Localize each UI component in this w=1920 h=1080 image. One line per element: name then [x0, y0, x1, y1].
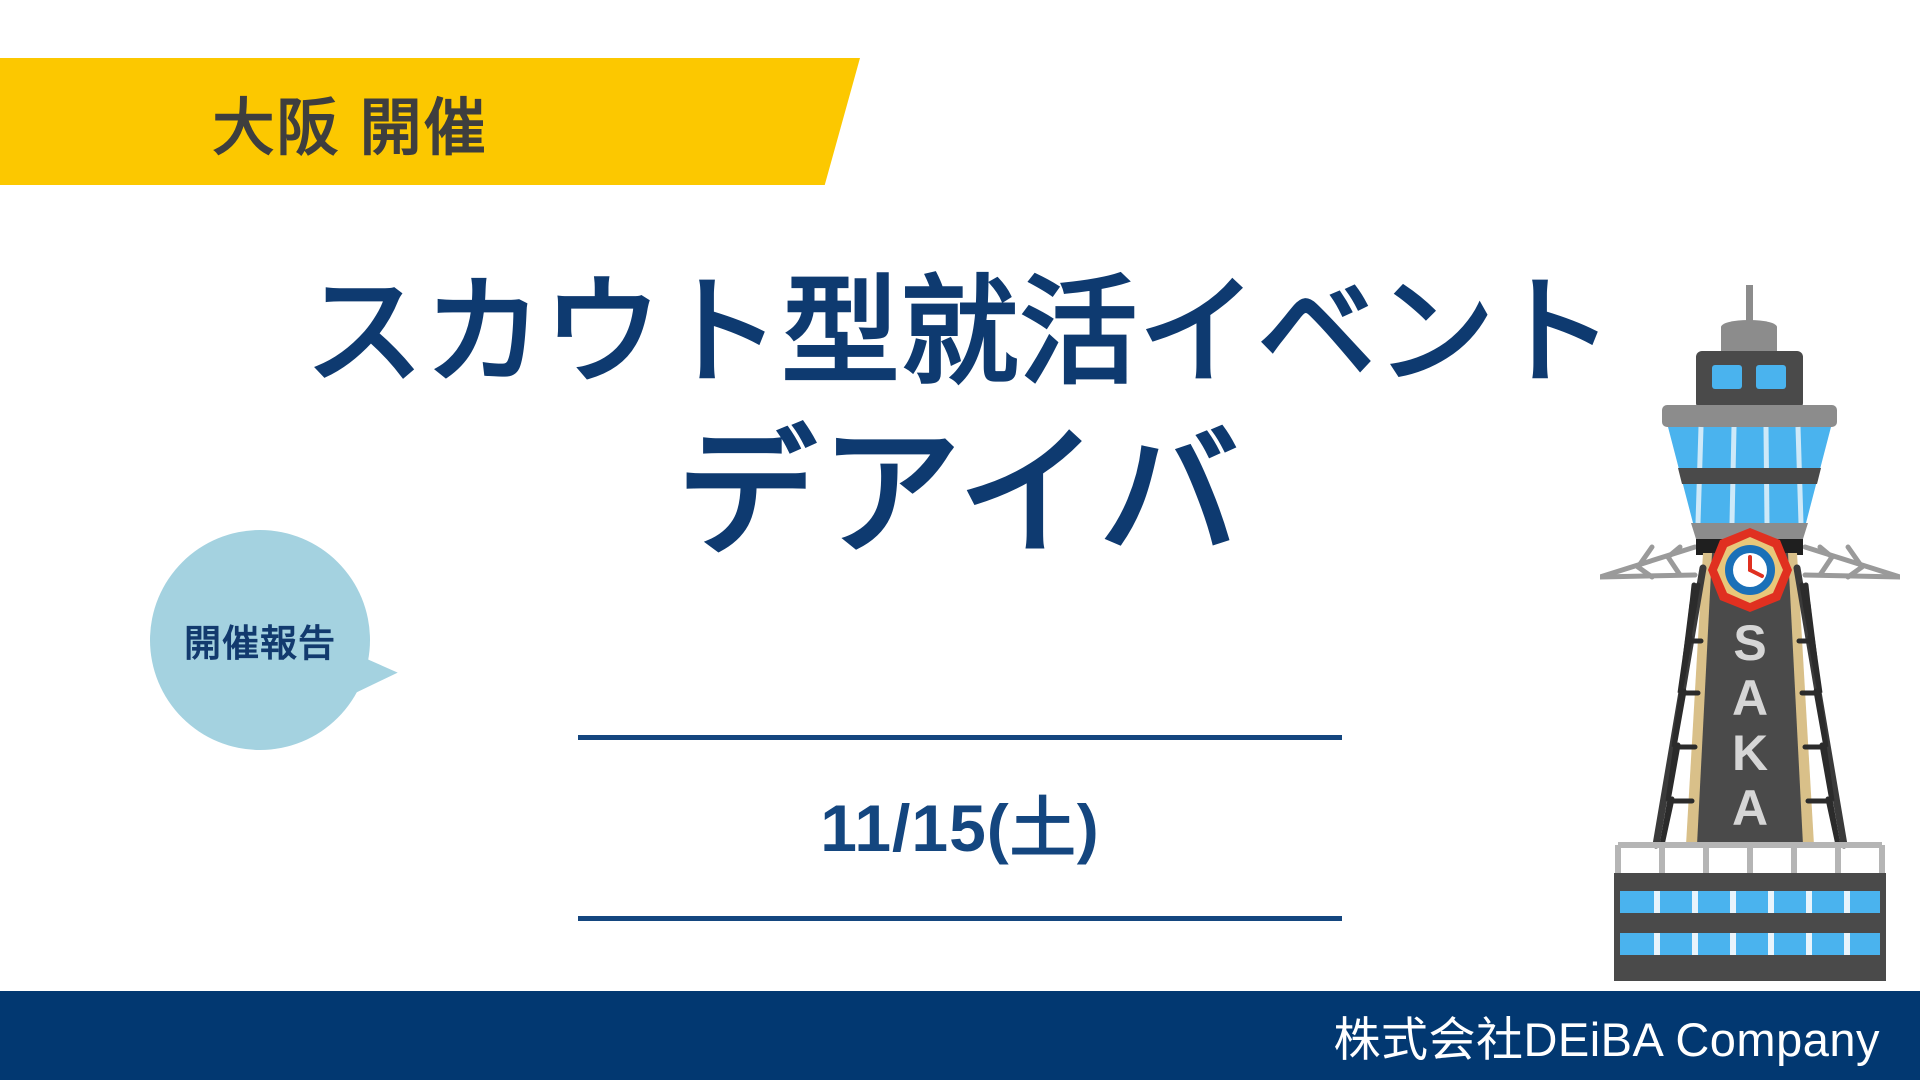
headline-line-1: スカウト型就活イベント — [300, 272, 1620, 396]
speech-bubble-label: 開催報告 — [150, 530, 370, 750]
date-rule-top — [578, 735, 1342, 740]
slide-canvas: 大阪 開催 スカウト型就活イベント デアイバ 開催報告 11/15(土) — [0, 0, 1920, 1080]
date-rule-bottom — [578, 916, 1342, 921]
svg-text:K: K — [1732, 725, 1768, 781]
headline-line-2: デアイバ — [300, 420, 1620, 567]
event-date: 11/15(土) — [578, 775, 1342, 871]
report-speech-bubble: 開催報告 — [150, 530, 430, 780]
tsutenkaku-tower-illustration: O S A K A — [1600, 285, 1900, 985]
ribbon-label: 大阪 開催 — [0, 58, 700, 185]
svg-text:S: S — [1733, 615, 1766, 671]
footer-company-name: 株式会社DEiBA Company — [1333, 991, 1880, 1080]
svg-text:A: A — [1732, 670, 1768, 726]
svg-text:A: A — [1732, 780, 1768, 836]
